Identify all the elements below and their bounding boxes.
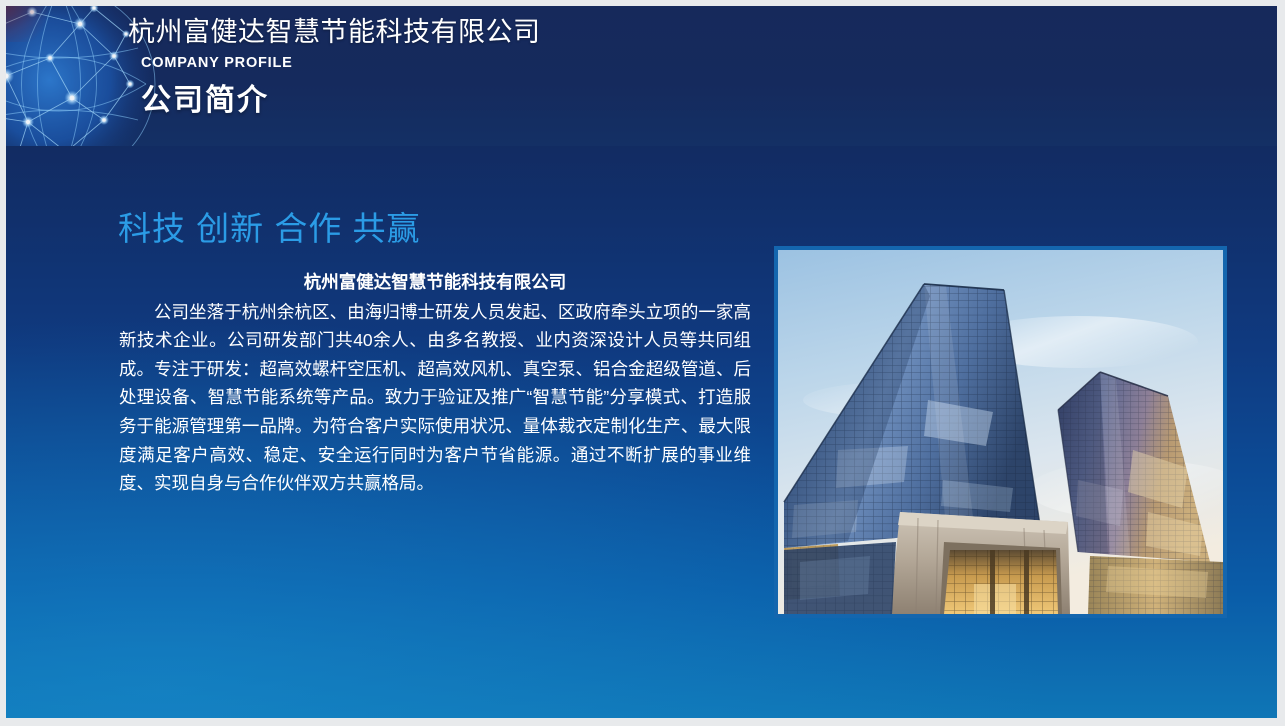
header-profile-chinese: 公司简介 <box>141 75 541 119</box>
slide-outer-frame: 杭州富健达智慧节能科技有限公司 COMPANY PROFILE 公司简介 科技 … <box>0 0 1285 726</box>
company-description-block: 杭州富健达智慧节能科技有限公司 公司坐落于杭州余杭区、由海归博士研发人员发起、区… <box>119 268 751 498</box>
building-photo-frame <box>774 246 1227 618</box>
header-company-name: 杭州富健达智慧节能科技有限公司 <box>128 16 541 48</box>
description-text: 公司坐落于杭州余杭区、由海归博士研发人员发起、区政府牵头立项的一家高新技术企业。… <box>119 298 751 498</box>
header-text-group: 杭州富健达智慧节能科技有限公司 COMPANY PROFILE 公司简介 <box>128 16 541 119</box>
slogan-text: 科技 创新 合作 共赢 <box>118 202 421 250</box>
building-photo <box>778 250 1223 614</box>
header-profile-english: COMPANY PROFILE <box>141 55 541 71</box>
description-title: 杭州富健达智慧节能科技有限公司 <box>119 268 751 297</box>
header-banner: 杭州富健达智慧节能科技有限公司 COMPANY PROFILE 公司简介 <box>6 6 1277 146</box>
slide-canvas: 杭州富健达智慧节能科技有限公司 COMPANY PROFILE 公司简介 科技 … <box>6 6 1277 718</box>
